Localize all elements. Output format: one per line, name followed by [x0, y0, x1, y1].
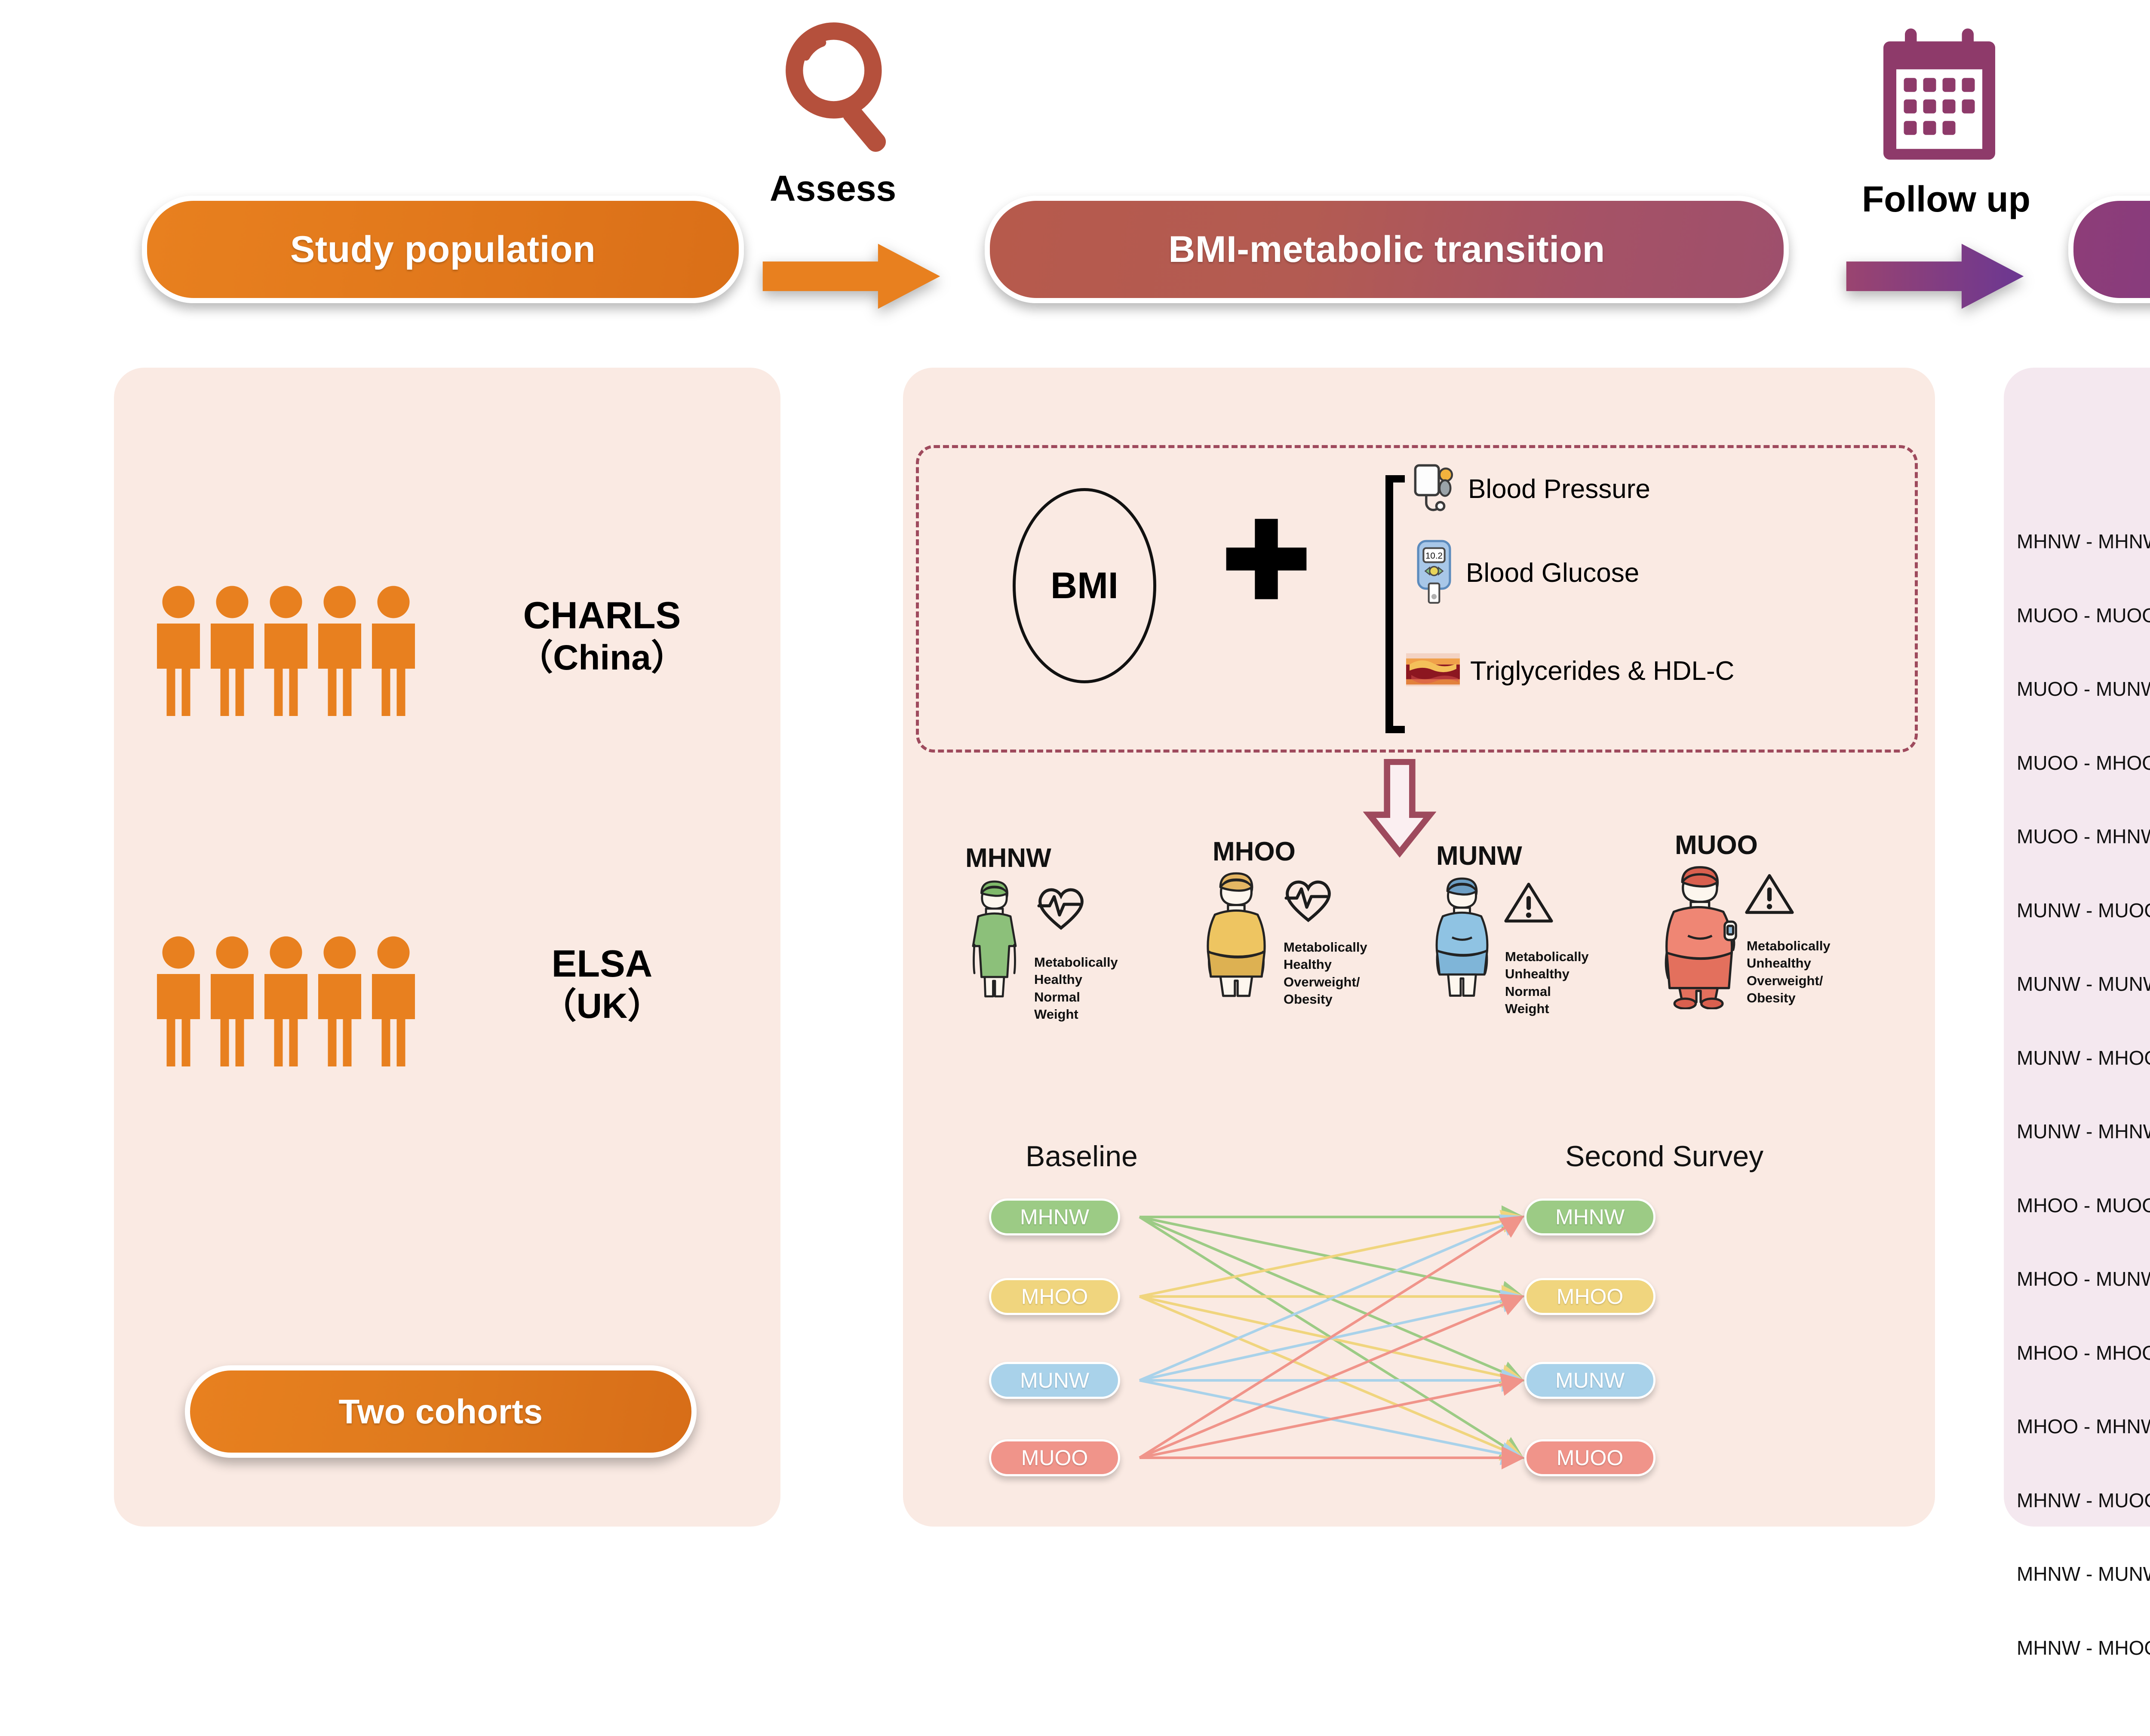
follow-up-arrow-icon: [1845, 241, 2025, 312]
follow-up-step-label: Follow up: [1862, 178, 2030, 220]
phenotype-munw-desc: Metabolically Unhealthy Normal Weight: [1505, 948, 1589, 1017]
phenotype-munw-code: MUNW: [1436, 841, 1522, 871]
criteria-bracket: [1382, 475, 1408, 733]
baseline-node-mhoo-label: MHOO: [1021, 1284, 1088, 1309]
forest-row-label: MUNW - MUNW: [2017, 972, 2146, 996]
phenotype-mhoo: MHOO Metabolically Healthy Overweight/ O…: [1191, 836, 1436, 1060]
phenotype-mhnw: MHNW Metabolically Healthy Normal Weight: [952, 843, 1193, 1058]
forest-row-label: MUOO - MHNW: [2017, 825, 2146, 848]
forest-row-label: MHOO - MUNW: [2017, 1267, 2146, 1290]
forest-row-label: MUNW - MHOO: [2017, 1046, 2146, 1069]
people-group-charls-icon: [153, 583, 428, 722]
bmi-transition-label: BMI-metabolic transition: [1168, 228, 1605, 271]
glucometer-reading: 10.2: [1425, 551, 1443, 561]
baseline-node-munw-label: MUNW: [1020, 1368, 1089, 1393]
second-survey-node-muoo-label: MUOO: [1557, 1445, 1624, 1470]
assess-step-label: Assess: [770, 168, 896, 209]
phenotype-muoo-desc: Metabolically Unhealthy Overweight/ Obes…: [1747, 937, 1831, 1007]
phenotype-mhnw-desc: Metabolically Healthy Normal Weight: [1034, 954, 1118, 1023]
forest-row-label: MUOO - MHOO: [2017, 751, 2146, 774]
forest-plot: RefMHNW - MHNWMUOO - MUOOMUOO - MUNWMUOO…: [2004, 368, 2150, 1527]
forest-row-label: MUOO - MUOO: [2017, 604, 2146, 627]
cohort-charls-label: CHARLS: [523, 594, 681, 636]
second-survey-node-munw-label: MUNW: [1555, 1368, 1625, 1393]
baseline-node-munw[interactable]: MUNW: [989, 1362, 1120, 1399]
calendar-icon: [1875, 19, 2004, 170]
second-survey-node-mhoo[interactable]: MHOO: [1524, 1278, 1655, 1315]
phenotype-muoo: MUOO Metabolically Unhealthy Overw: [1651, 830, 1909, 1062]
forest-row-label: MHNW - MUOO: [2017, 1489, 2146, 1512]
baseline-node-mhnw[interactable]: MHNW: [989, 1198, 1120, 1235]
cohort-name-elsa: ELSA （UK）: [447, 942, 757, 1026]
people-group-elsa-icon: [153, 933, 428, 1073]
baseline-node-muoo[interactable]: MUOO: [989, 1439, 1120, 1476]
plus-icon: [1223, 516, 1309, 602]
forest-row-label: MHNW - MHOO: [2017, 1636, 2146, 1659]
forest-row-label: MUNW - MHNW: [2017, 1120, 2146, 1143]
bmi-label: BMI: [1050, 565, 1118, 607]
criteria-blood-glucose: 10.2 Blood Glucose: [1413, 538, 1639, 608]
transition-baseline-header: Baseline: [1026, 1140, 1138, 1173]
second-survey-node-muoo[interactable]: MUOO: [1524, 1439, 1655, 1476]
cohort-elsa-label: ELSA: [552, 942, 653, 985]
bmi-metabolic-transition-banner[interactable]: BMI-metabolic transition: [985, 196, 1789, 303]
heartbeat-icon: [1281, 876, 1335, 925]
phenotype-munw: MUNW Metabolically Unhealthy Normal Weig…: [1419, 841, 1660, 1060]
study-population-banner[interactable]: Study population: [142, 196, 744, 303]
blood-pressure-monitor-icon: [1410, 462, 1458, 516]
transition-arrows: [989, 1200, 1806, 1475]
second-survey-node-mhnw-label: MHNW: [1555, 1204, 1625, 1229]
phenotype-mhoo-desc: Metabolically Healthy Overweight/ Obesit…: [1284, 939, 1367, 1008]
criteria-blood-glucose-label: Blood Glucose: [1466, 558, 1639, 588]
bmi-ellipse: BMI: [1013, 488, 1156, 683]
warning-icon: [1744, 871, 1795, 919]
criteria-blood-pressure-label: Blood Pressure: [1468, 474, 1650, 504]
transition-second-survey-header: Second Survey: [1565, 1140, 1763, 1173]
phenotype-mhoo-code: MHOO: [1213, 836, 1296, 867]
baseline-node-mhnw-label: MHNW: [1020, 1204, 1089, 1229]
criteria-triglycerides-label: Triglycerides & HDL-C: [1470, 656, 1734, 686]
baseline-node-mhoo[interactable]: MHOO: [989, 1278, 1120, 1315]
forest-row-label: MHOO - MUOO: [2017, 1194, 2146, 1217]
artery-plaque-icon: [1406, 649, 1460, 692]
magnifier-icon: [770, 17, 912, 168]
criteria-triglycerides: Triglycerides & HDL-C: [1406, 649, 1734, 692]
baseline-node-muoo-label: MUOO: [1021, 1445, 1088, 1470]
forest-row-label: MHOO - MHOO: [2017, 1341, 2146, 1364]
cohort-charls-country: （China）: [447, 637, 757, 678]
second-survey-node-mhoo-label: MHOO: [1557, 1284, 1624, 1309]
second-survey-node-mhnw[interactable]: MHNW: [1524, 1198, 1655, 1235]
forest-row-label: MHNW - MHNW: [2017, 530, 2146, 553]
second-survey-node-munw[interactable]: MUNW: [1524, 1362, 1655, 1399]
study-population-label: Study population: [290, 228, 596, 271]
glucometer-icon: 10.2: [1413, 538, 1456, 608]
criteria-blood-pressure: Blood Pressure: [1410, 462, 1650, 516]
phenotype-mhnw-code: MHNW: [965, 843, 1051, 873]
assess-arrow-icon: [761, 241, 942, 312]
heartbeat-icon: [1034, 884, 1088, 933]
warning-icon: [1503, 879, 1554, 928]
cvd-risks-banner[interactable]: CVD risks: [2068, 196, 2150, 303]
two-cohorts-label: Two cohorts: [338, 1392, 543, 1432]
forest-row-label: MHOO - MHNW: [2017, 1415, 2146, 1438]
cohort-elsa-country: （UK）: [447, 986, 757, 1026]
phenotype-muoo-code: MUOO: [1675, 830, 1758, 860]
forest-row-label: MHNW - MUNW: [2017, 1562, 2146, 1585]
forest-row-label: MUOO - MUNW: [2017, 677, 2146, 701]
forest-row-label: MUNW - MUOO: [2017, 899, 2146, 922]
two-cohorts-button[interactable]: Two cohorts: [185, 1365, 697, 1458]
cohort-name-charls: CHARLS （China）: [447, 593, 757, 678]
